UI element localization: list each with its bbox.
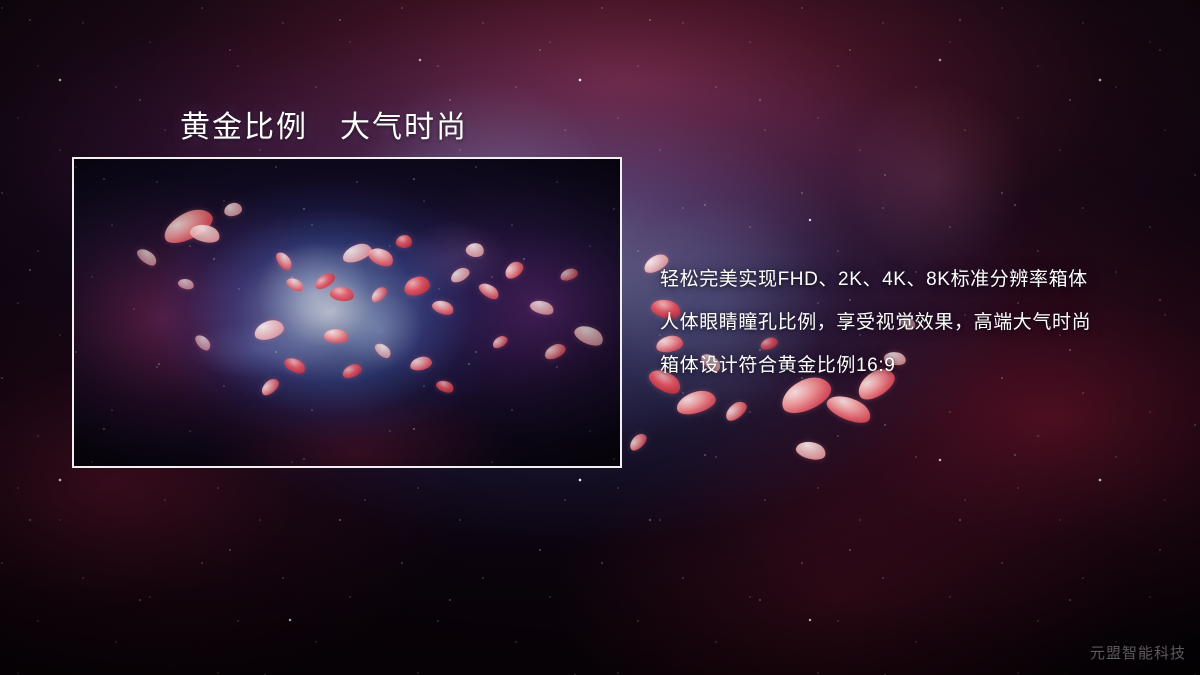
petal bbox=[284, 275, 305, 294]
preview-nebula-wisps bbox=[74, 159, 620, 466]
preview-frame bbox=[72, 157, 622, 468]
petal bbox=[430, 297, 455, 317]
petal bbox=[435, 378, 456, 395]
petal bbox=[559, 267, 579, 283]
petal bbox=[329, 285, 355, 303]
feature-line: 人体眼睛瞳孔比例，享受视觉效果，高端大气时尚 bbox=[660, 301, 1180, 344]
presentation-slide: 黄金比例 大气时尚 轻松完美实现FHD、2K、4K、8K标准分辨率箱体 人体眼睛… bbox=[0, 0, 1200, 675]
petal bbox=[369, 285, 390, 305]
petal bbox=[341, 362, 364, 380]
petal bbox=[177, 277, 195, 291]
petal bbox=[409, 355, 433, 372]
petal bbox=[366, 244, 396, 270]
page-title: 黄金比例 大气时尚 bbox=[180, 102, 468, 146]
petal bbox=[542, 341, 567, 361]
feature-line: 箱体设计符合黄金比例16:9 bbox=[660, 344, 1180, 387]
petal bbox=[448, 265, 471, 285]
petal bbox=[722, 398, 750, 423]
petal bbox=[402, 274, 431, 297]
petal bbox=[312, 270, 337, 291]
petal bbox=[323, 327, 349, 344]
petal bbox=[340, 241, 373, 265]
preview-vignette bbox=[74, 159, 620, 466]
petal bbox=[794, 438, 828, 463]
petal bbox=[373, 340, 394, 360]
petal bbox=[135, 245, 160, 268]
petal bbox=[824, 390, 875, 429]
petal bbox=[159, 204, 217, 249]
petal bbox=[529, 298, 556, 318]
preview-nebula bbox=[74, 159, 620, 466]
feature-line: 轻松完美实现FHD、2K、4K、8K标准分辨率箱体 bbox=[660, 258, 1180, 301]
brand-watermark: 元盟智能科技 bbox=[1090, 642, 1186, 663]
petal bbox=[627, 431, 650, 453]
petal bbox=[188, 221, 222, 246]
petal bbox=[674, 387, 718, 417]
feature-list: 轻松完美实现FHD、2K、4K、8K标准分辨率箱体 人体眼睛瞳孔比例，享受视觉效… bbox=[660, 258, 1180, 387]
preview-starfield-small bbox=[72, 157, 622, 468]
petal bbox=[395, 234, 412, 249]
petal bbox=[502, 259, 526, 282]
petal bbox=[193, 332, 213, 353]
petal bbox=[274, 249, 295, 272]
petal bbox=[491, 334, 510, 350]
petal bbox=[223, 202, 243, 217]
petal bbox=[572, 321, 606, 349]
petal bbox=[258, 376, 281, 398]
preview-starfield-medium bbox=[72, 157, 622, 468]
petal bbox=[477, 280, 502, 303]
petal bbox=[282, 354, 308, 376]
petal bbox=[252, 318, 285, 343]
petal bbox=[465, 241, 486, 259]
